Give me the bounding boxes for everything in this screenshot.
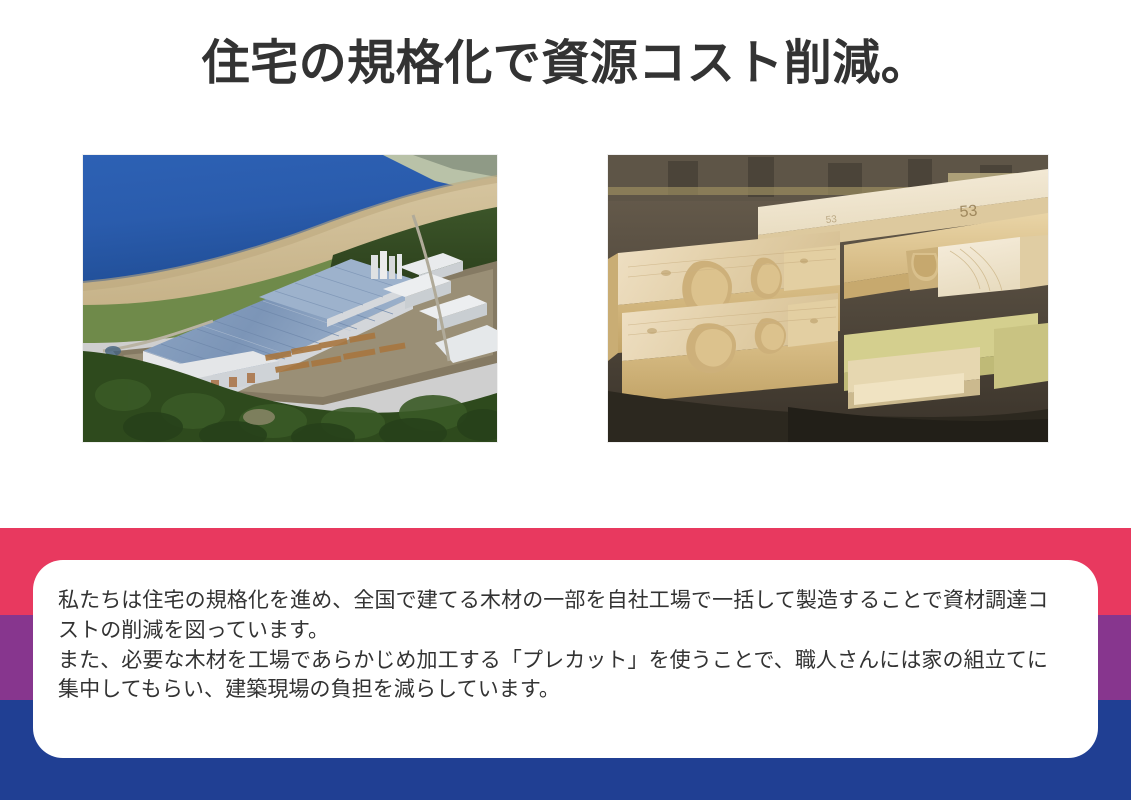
- silo-cluster: [371, 251, 402, 279]
- precut-lumber-illustration: 53 53: [608, 155, 1048, 442]
- slide-root: 住宅の規格化で資源コスト削減。: [0, 0, 1131, 800]
- svg-text:53: 53: [825, 214, 837, 226]
- aerial-factory-photo: [83, 155, 497, 442]
- precut-lumber-photo: 53 53: [608, 155, 1048, 442]
- beam-number-label: 53: [959, 202, 978, 220]
- aerial-factory-illustration: [83, 155, 497, 442]
- page-title: 住宅の規格化で資源コスト削減。: [0, 36, 1131, 91]
- photo-row: 53 53: [0, 155, 1131, 442]
- caption-body-text: 私たちは住宅の規格化を進め、全国で建てる木材の一部を自社工場で一括して製造するこ…: [58, 586, 1068, 705]
- caption-card: 私たちは住宅の規格化を進め、全国で建てる木材の一部を自社工場で一括して製造するこ…: [33, 560, 1098, 758]
